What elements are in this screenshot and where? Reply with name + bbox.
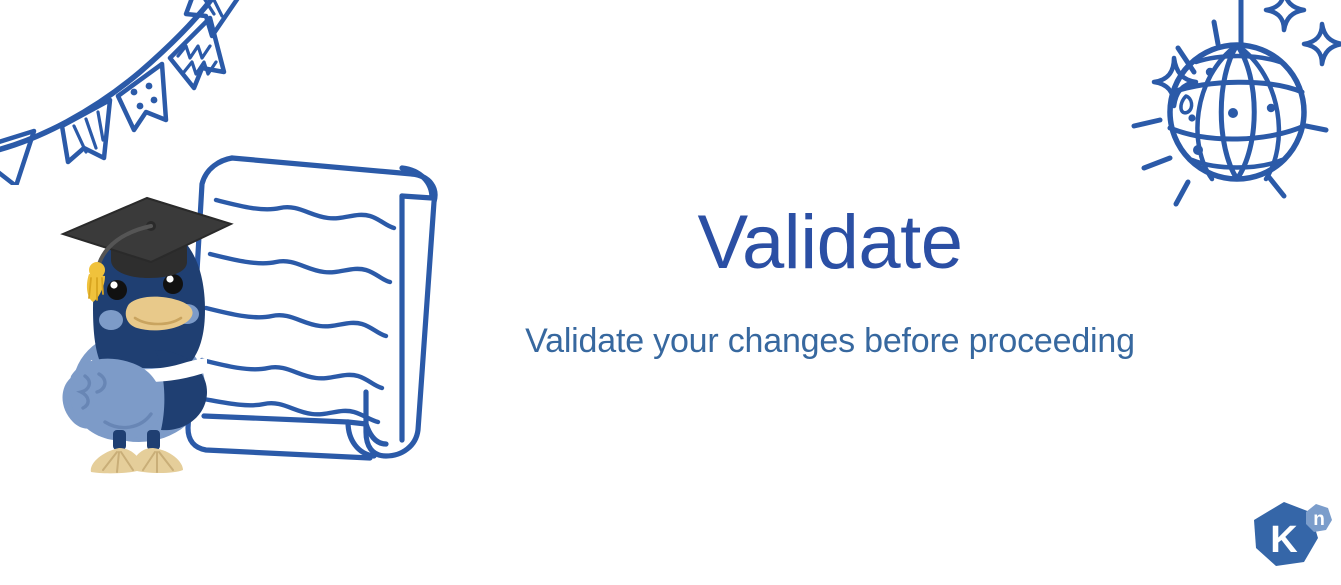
bunting-flag-zigzag [170,18,224,88]
bunting-flag-dots [118,64,166,130]
bunting-flag-stripes-2 [62,100,110,162]
disco-ball-decoration [1116,0,1341,230]
bunting-flag-stripes-1 [0,131,34,185]
page-title: Validate [470,205,1190,281]
bunting-flag-stripes-3 [186,0,238,36]
bunting-decoration [0,0,240,185]
logo-badge-letter: n [1313,509,1325,530]
graduate-bird-mascot [55,190,240,475]
logo-primary-letter: K [1270,519,1298,561]
brand-logo: K n [1248,498,1334,580]
parchment-scroll-decoration [180,140,465,465]
page-subtitle: Validate your changes before proceeding [470,281,1190,360]
slide-canvas: Validate Validate your changes before pr… [0,0,1341,585]
headline-block: Validate Validate your changes before pr… [470,205,1190,360]
